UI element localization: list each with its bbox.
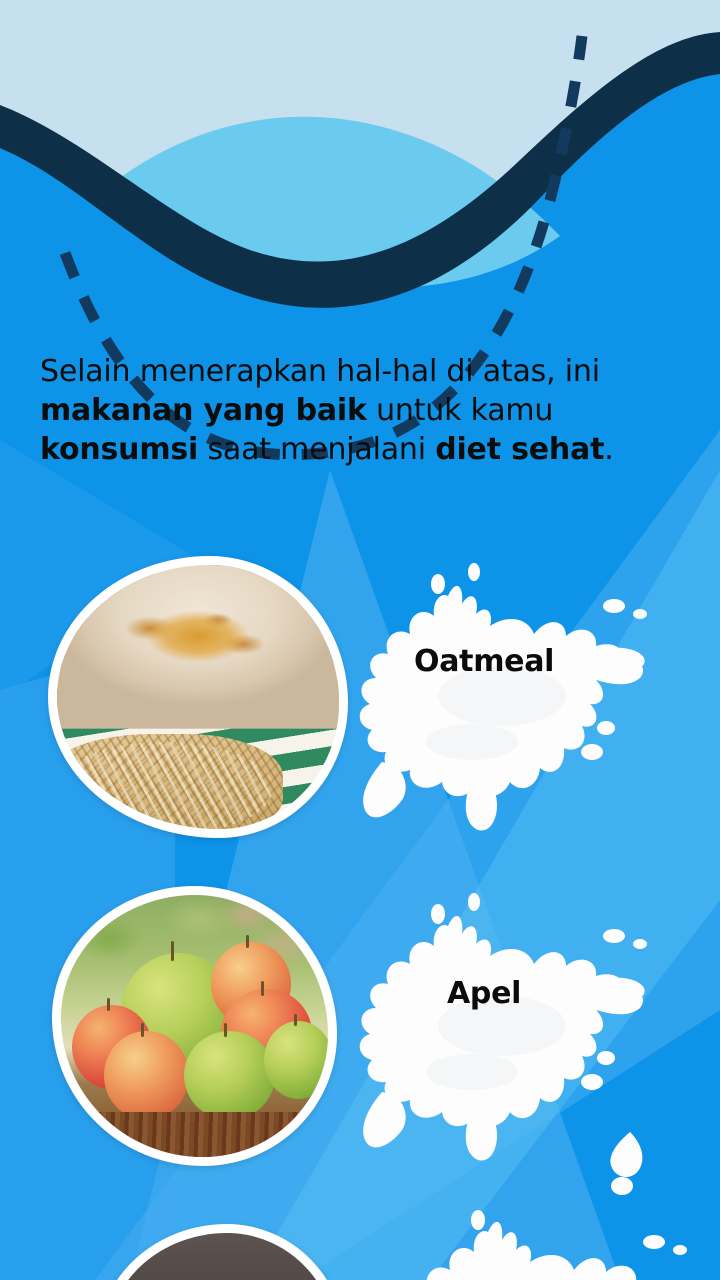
headline-line2-plain: untuk kamu xyxy=(367,393,554,428)
headline-line3-plain: saat menjalani xyxy=(198,432,435,467)
poster-canvas: Selain menerapkan hal-hal di atas, ini m… xyxy=(0,0,720,1280)
headline-line3-end: . xyxy=(604,432,613,467)
bg-polygon-left xyxy=(0,640,175,1280)
headline-line1-plain: Selain menerapkan hal-hal di atas, ini xyxy=(40,354,600,389)
background-shapes xyxy=(0,0,720,1280)
headline-line-1: Selain menerapkan hal-hal di atas, ini xyxy=(40,352,680,391)
headline-line-3: konsumsi saat menjalani diet sehat. xyxy=(40,430,680,469)
headline-line2-bold: makanan yang baik xyxy=(40,393,367,428)
headline-line3-bold: konsumsi xyxy=(40,432,198,467)
headline-line-2: makanan yang baik untuk kamu xyxy=(40,391,680,430)
headline-line3-bold2: diet sehat xyxy=(435,432,604,467)
headline-text: Selain menerapkan hal-hal di atas, ini m… xyxy=(40,352,680,469)
